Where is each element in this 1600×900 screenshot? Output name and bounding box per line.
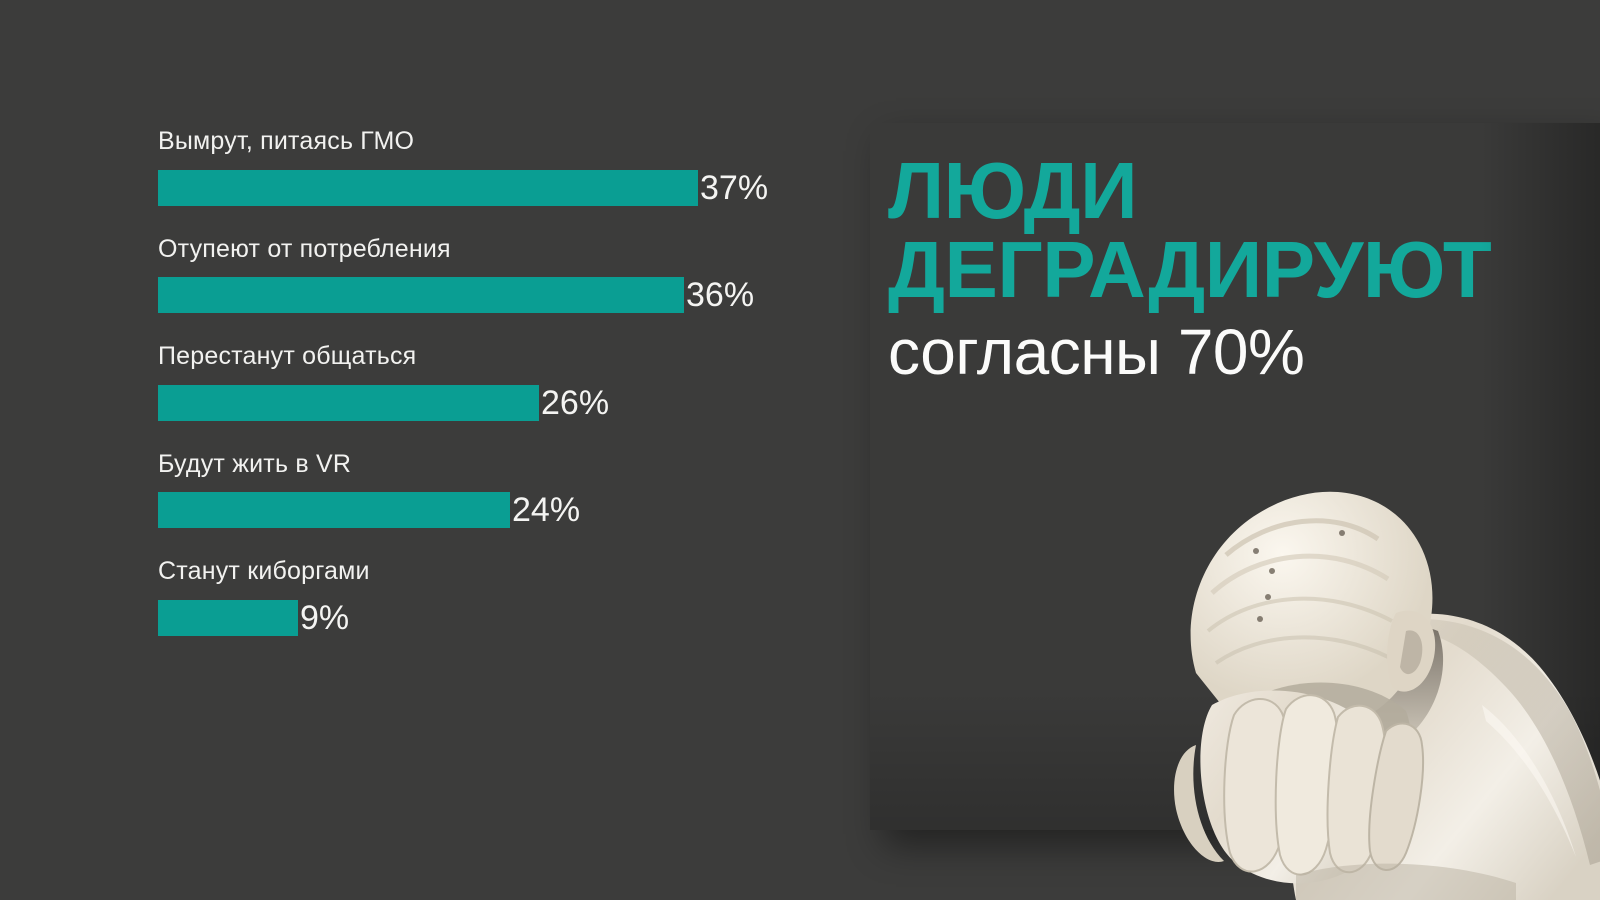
infographic-slide: Вымрут, питаясь ГМО 37% Отупеют от потре… — [0, 0, 1600, 900]
bar-label: Вымрут, питаясь ГМО — [158, 128, 818, 156]
bar-row: Перестанут общаться 26% — [158, 343, 818, 421]
bar-track: 26% — [158, 385, 818, 421]
bar-value: 36% — [686, 277, 754, 313]
headline-line-1: ЛЮДИ — [888, 151, 1588, 230]
headline-line-2: ДЕГРАДИРУЮТ — [888, 230, 1588, 309]
bar-value: 24% — [512, 492, 580, 528]
bar-value: 37% — [700, 170, 768, 206]
bar-fill — [158, 277, 684, 313]
bar-label: Станут киборгами — [158, 558, 818, 586]
bar-chart: Вымрут, питаясь ГМО 37% Отупеют от потре… — [158, 128, 818, 768]
bar-fill — [158, 385, 539, 421]
bar-label: Перестанут общаться — [158, 343, 818, 371]
headline: ЛЮДИ ДЕГРАДИРУЮТ согласны 70% — [888, 151, 1588, 391]
bar-fill — [158, 170, 698, 206]
bar-row: Отупеют от потребления 36% — [158, 236, 818, 314]
bar-label: Будут жить в VR — [158, 451, 818, 479]
bar-track: 36% — [158, 277, 818, 313]
bar-row: Вымрут, питаясь ГМО 37% — [158, 128, 818, 206]
bar-track: 9% — [158, 600, 818, 636]
bar-label: Отупеют от потребления — [158, 236, 818, 264]
bar-value: 26% — [541, 385, 609, 421]
headline-subline: согласны 70% — [888, 315, 1588, 391]
bar-row: Станут киборгами 9% — [158, 558, 818, 636]
bar-fill — [158, 492, 510, 528]
bar-track: 37% — [158, 170, 818, 206]
bar-track: 24% — [158, 492, 818, 528]
headline-panel: ЛЮДИ ДЕГРАДИРУЮТ согласны 70% — [870, 123, 1600, 830]
bar-fill — [158, 600, 298, 636]
bar-row: Будут жить в VR 24% — [158, 451, 818, 529]
bar-value: 9% — [300, 600, 349, 636]
